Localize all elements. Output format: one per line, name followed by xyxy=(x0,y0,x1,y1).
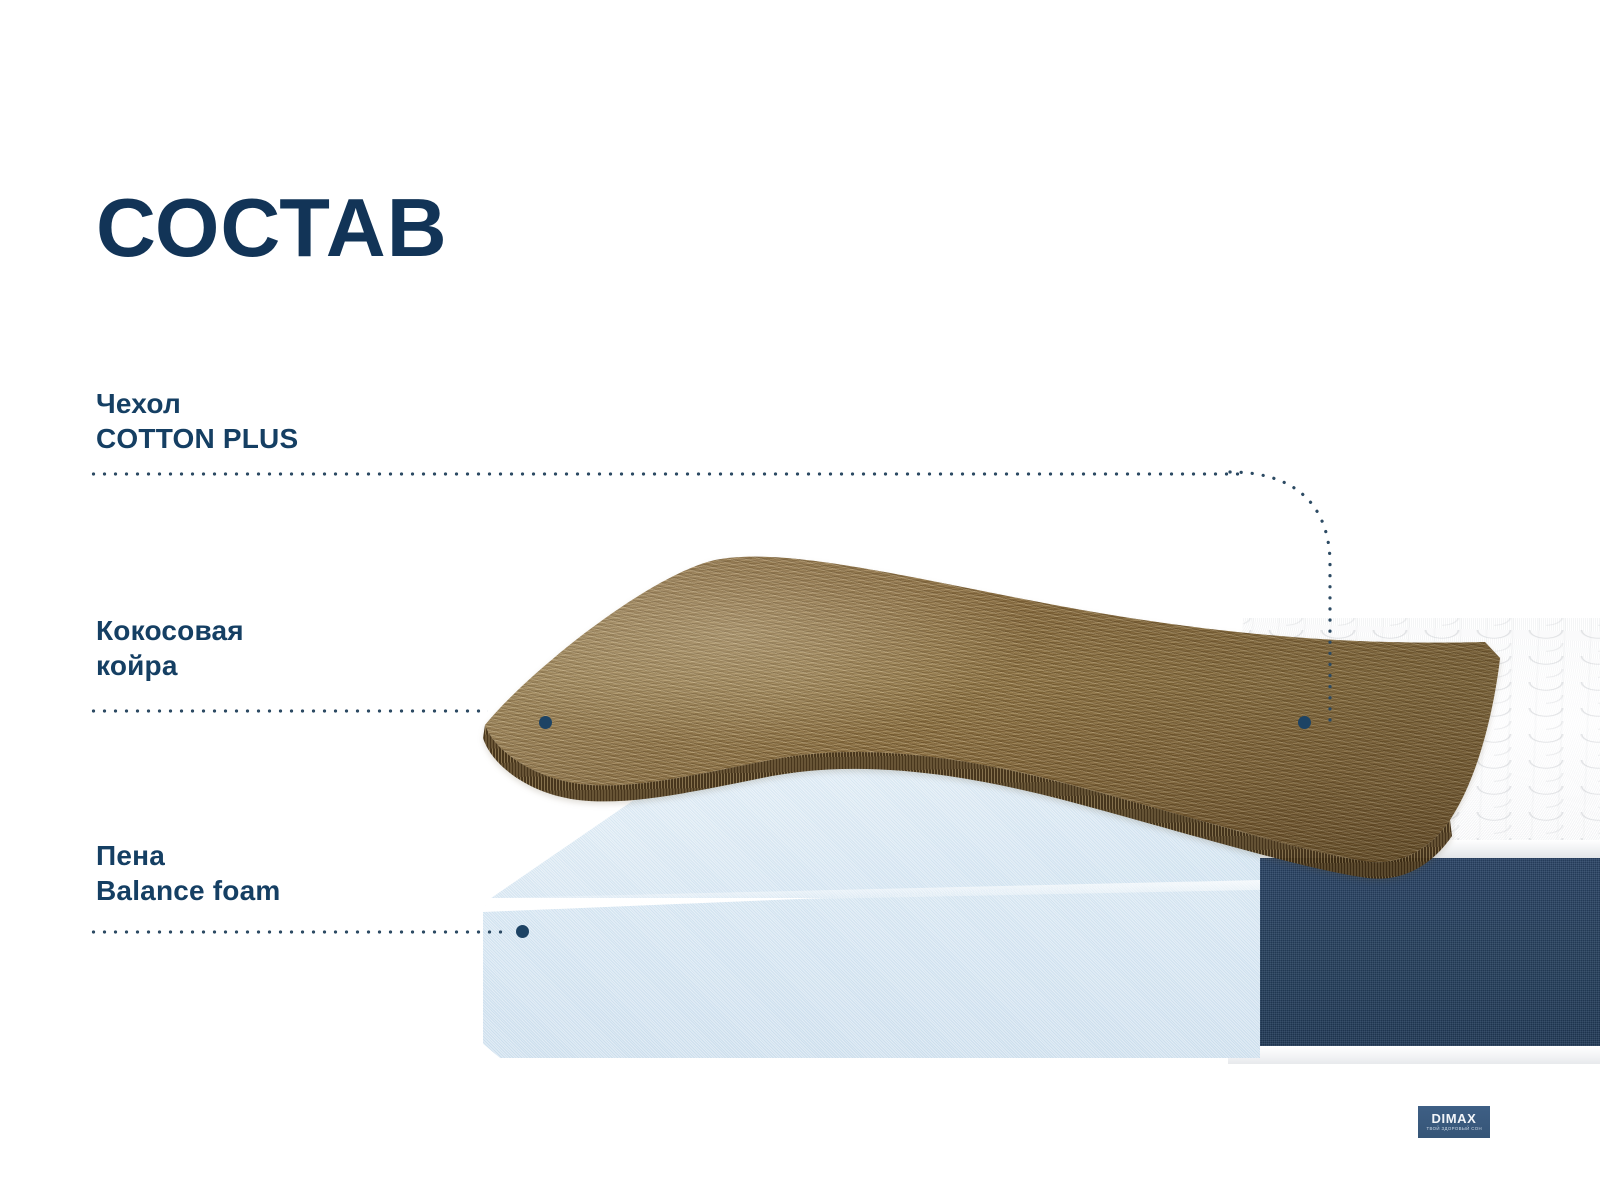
leader-line-cover xyxy=(88,472,1243,476)
leader-line-coir xyxy=(88,709,488,713)
callout-cover-line1: Чехол xyxy=(96,386,298,421)
callout-foam-line2: Balance foam xyxy=(96,873,280,908)
composition-infographic: СОСТАВ DIMAX ТВОЙ ЗДОРОВЫЙ СОН Чехол COT… xyxy=(0,0,1600,1201)
callout-cover-line2: COTTON PLUS xyxy=(96,421,298,456)
page-title: СОСТАВ xyxy=(96,186,448,269)
callout-coir: Кокосовая койра xyxy=(96,613,244,683)
callout-coir-line2: койра xyxy=(96,648,244,683)
leader-dot-cover xyxy=(1298,716,1311,729)
callout-foam: Пена Balance foam xyxy=(96,838,280,908)
callout-cover: Чехол COTTON PLUS xyxy=(96,386,298,456)
callout-coir-line1: Кокосовая xyxy=(96,613,244,648)
brand-tagline: ТВОЙ ЗДОРОВЫЙ СОН xyxy=(1426,1127,1482,1131)
foam-front-face xyxy=(483,880,1260,1058)
leader-line-foam xyxy=(88,930,508,934)
bottom-welt xyxy=(1228,1046,1600,1064)
brand-name: DIMAX xyxy=(1432,1112,1477,1125)
leader-dot-coir xyxy=(539,716,552,729)
brand-label: DIMAX ТВОЙ ЗДОРОВЫЙ СОН xyxy=(1418,1106,1490,1138)
leader-dot-foam xyxy=(516,925,529,938)
leader-line-cover-curve xyxy=(1150,440,1380,740)
callout-foam-line1: Пена xyxy=(96,838,280,873)
